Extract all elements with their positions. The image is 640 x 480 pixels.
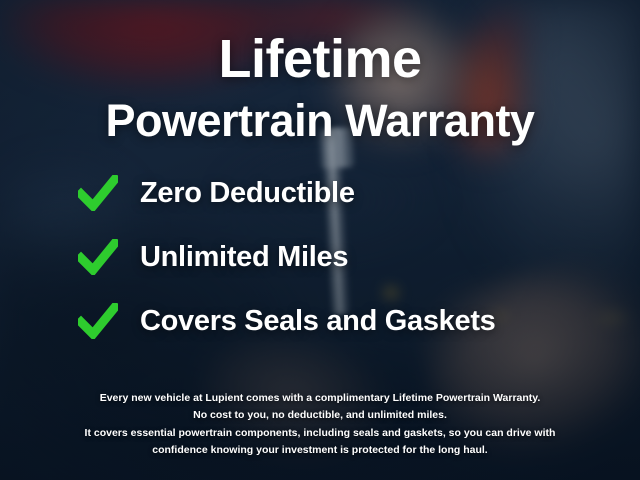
headline-line-2: Powertrain Warranty	[106, 98, 535, 143]
feature-item-covers-seals-and-gaskets: Covers Seals and Gaskets	[78, 303, 496, 339]
feature-label-covers-seals-and-gaskets: Covers Seals and Gaskets	[140, 305, 496, 338]
feature-item-unlimited-miles: Unlimited Miles	[78, 239, 348, 275]
check-icon	[78, 303, 118, 339]
warranty-description: Every new vehicle at Lupient comes with …	[0, 390, 640, 459]
check-icon	[78, 239, 118, 275]
feature-label-unlimited-miles: Unlimited Miles	[140, 241, 348, 274]
description-line-4: confidence knowing your investment is pr…	[34, 442, 606, 459]
headline-line-1: Lifetime	[218, 32, 421, 86]
feature-item-zero-deductible: Zero Deductible	[78, 175, 355, 211]
lifetime-powertrain-warranty-banner: Lifetime Powertrain Warranty Zero Deduct…	[0, 0, 640, 480]
banner-content: Lifetime Powertrain Warranty Zero Deduct…	[0, 0, 640, 480]
feature-label-zero-deductible: Zero Deductible	[140, 177, 355, 210]
description-line-3: It covers essential powertrain component…	[34, 425, 606, 442]
description-line-1: Every new vehicle at Lupient comes with …	[34, 390, 606, 407]
feature-list: Zero Deductible Unlimited Miles Covers S…	[0, 175, 640, 339]
description-line-2: No cost to you, no deductible, and unlim…	[34, 407, 606, 424]
check-icon	[78, 175, 118, 211]
